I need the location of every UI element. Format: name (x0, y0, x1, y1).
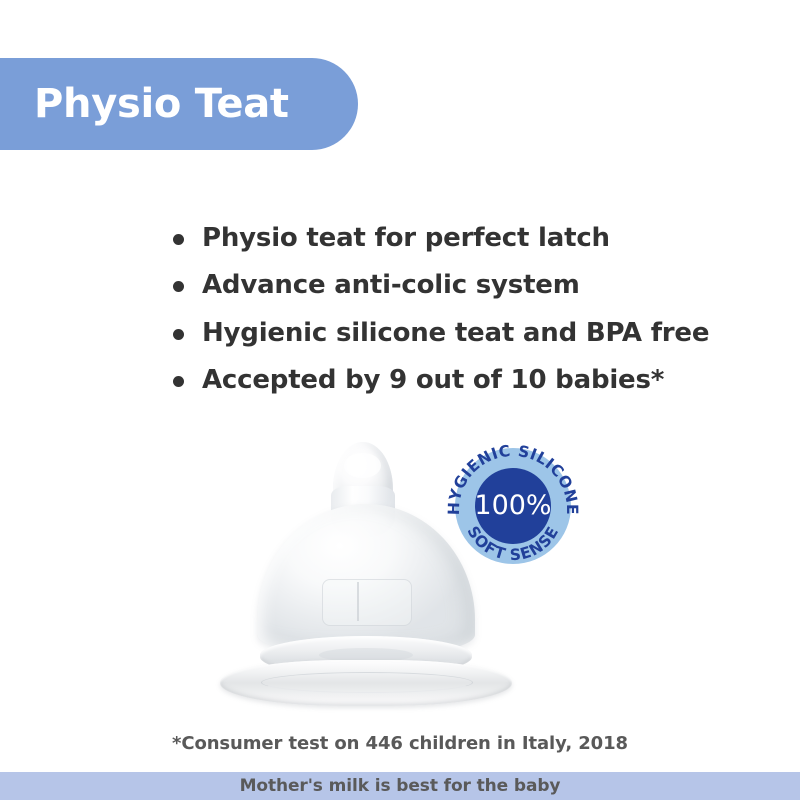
teat-base-flange (220, 660, 512, 706)
header-banner: Physio Teat (0, 58, 358, 150)
list-item-label: Accepted by 9 out of 10 babies* (202, 365, 664, 395)
feature-list: Physio teat for perfect latch Advance an… (168, 222, 768, 411)
bullet-dot-icon (173, 329, 184, 340)
quality-badge: HYGIENIC SILICONE SOFT SENSE 100% (443, 440, 583, 570)
list-item: Hygienic silicone teat and BPA free (168, 317, 768, 350)
list-item-label: Physio teat for perfect latch (202, 223, 610, 253)
list-item: Accepted by 9 out of 10 babies* (168, 364, 768, 397)
footnote-text: *Consumer test on 446 children in Italy,… (0, 733, 800, 754)
bullet-dot-icon (173, 376, 184, 387)
bottom-bar: Mother's milk is best for the baby (0, 772, 800, 800)
badge-center-text: 100% (474, 490, 551, 521)
page-title: Physio Teat (34, 84, 289, 124)
list-item: Advance anti-colic system (168, 269, 768, 302)
list-item: Physio teat for perfect latch (168, 222, 768, 255)
list-item-label: Hygienic silicone teat and BPA free (202, 318, 709, 348)
list-item-label: Advance anti-colic system (202, 270, 580, 300)
bullet-dot-icon (173, 281, 184, 292)
badge-svg: HYGIENIC SILICONE SOFT SENSE 100% (443, 440, 583, 570)
bullet-dot-icon (173, 234, 184, 245)
bottom-bar-label: Mother's milk is best for the baby (240, 776, 561, 796)
